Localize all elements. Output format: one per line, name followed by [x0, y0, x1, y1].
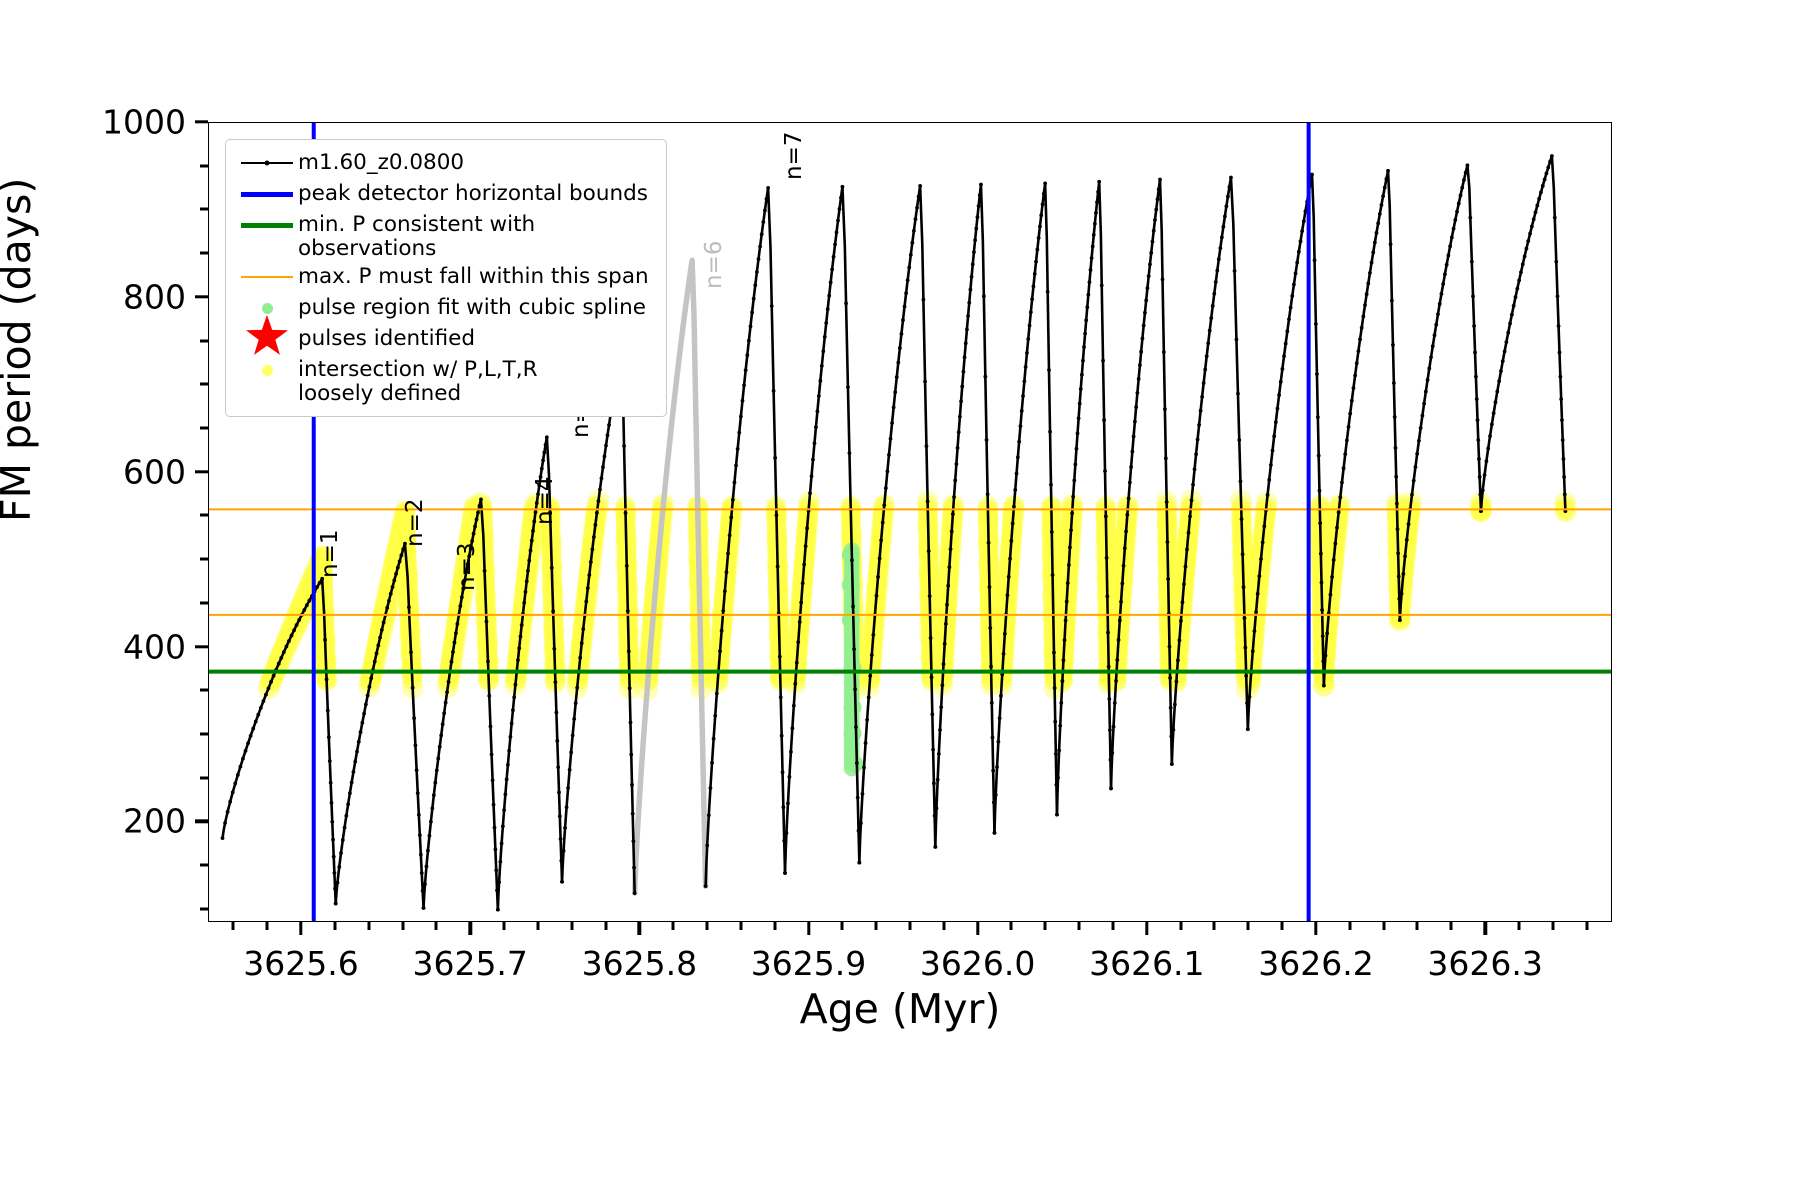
data-point: [601, 465, 605, 469]
x-tick-minor: [1450, 922, 1453, 930]
data-point: [933, 845, 937, 849]
data-point: [1419, 426, 1423, 430]
data-point: [1019, 424, 1023, 428]
data-point: [1066, 581, 1070, 585]
data-point: [701, 758, 706, 763]
data-point: [964, 341, 968, 345]
legend-line-icon: [236, 262, 298, 292]
data-point: [1535, 204, 1539, 208]
data-point: [1457, 202, 1461, 206]
data-point: [483, 569, 487, 573]
data-point: [373, 660, 377, 664]
legend-item[interactable]: pulse region fit with cubic spline: [236, 293, 656, 323]
data-point: [489, 725, 493, 729]
data-point: [1546, 166, 1550, 170]
y-tick-label: 600: [123, 452, 186, 491]
data-point: [876, 575, 880, 579]
data-point: [1196, 438, 1200, 442]
data-point: [323, 638, 327, 642]
y-tick-minor: [200, 864, 208, 867]
data-point: [1422, 402, 1426, 406]
y-tick-minor: [200, 339, 208, 342]
data-point: [498, 860, 502, 864]
data-point: [962, 370, 966, 374]
data-point: [1548, 160, 1552, 164]
data-point: [392, 578, 396, 582]
x-tick-minor: [570, 922, 573, 930]
data-point: [772, 389, 776, 393]
y-tick-minor: [200, 383, 208, 386]
data-point: [1223, 215, 1227, 219]
data-point: [516, 658, 520, 662]
data-point: [357, 740, 361, 744]
data-point: [1512, 304, 1516, 308]
data-point: [1474, 375, 1478, 379]
data-point: [1352, 386, 1356, 390]
data-point: [1514, 295, 1518, 299]
data-point: [295, 623, 299, 627]
data-point: [494, 868, 498, 872]
data-point: [1497, 379, 1501, 383]
data-point: [1164, 456, 1168, 460]
data-point: [552, 647, 556, 651]
data-point: [944, 622, 948, 626]
y-axis-label: FM period (days): [0, 178, 40, 522]
data-point: [554, 711, 558, 715]
data-point: [1558, 351, 1562, 355]
data-point: [1083, 332, 1087, 336]
data-point: [1534, 210, 1538, 214]
data-point: [1436, 312, 1440, 316]
data-point: [1262, 524, 1266, 528]
data-point: [542, 451, 546, 455]
data-point: [1200, 395, 1204, 399]
data-point: [823, 335, 827, 339]
data-point: [1345, 438, 1349, 442]
data-point: [541, 459, 545, 463]
data-point: [918, 184, 922, 188]
data-point: [712, 737, 716, 741]
data-point: [287, 639, 291, 643]
data-point: [1115, 658, 1119, 662]
data-point: [1320, 608, 1324, 612]
data-point: [586, 586, 590, 590]
data-point: [1039, 213, 1043, 217]
data-point: [1488, 434, 1492, 438]
cycle-annotation-n7: n=7: [781, 131, 807, 179]
data-point: [360, 721, 364, 725]
data-point: [1302, 219, 1306, 223]
data-point: [325, 677, 329, 681]
data-point: [1358, 337, 1362, 341]
data-point: [742, 383, 746, 387]
data-point: [811, 458, 815, 462]
data-point: [1043, 181, 1047, 185]
y-tick-minor: [200, 514, 208, 517]
data-point: [510, 721, 514, 725]
data-point: [789, 750, 793, 754]
data-point: [733, 481, 737, 485]
data-point: [731, 498, 735, 502]
data-point: [635, 826, 640, 831]
data-point: [1188, 514, 1192, 518]
data-point: [1417, 439, 1421, 443]
data-point: [239, 765, 243, 769]
data-point: [1390, 299, 1394, 303]
data-point: [228, 800, 232, 804]
legend-item[interactable]: min. P consistent with observations: [236, 210, 656, 261]
y-tick-label: 200: [123, 802, 186, 841]
data-point: [674, 383, 679, 388]
data-point: [1151, 240, 1155, 244]
data-point: [710, 761, 714, 765]
legend[interactable]: m1.60_z0.0800peak detector horizontal bo…: [225, 139, 667, 417]
data-point: [867, 696, 871, 700]
data-point: [409, 650, 413, 654]
data-point: [1012, 505, 1016, 509]
data-point: [965, 328, 969, 332]
data-point: [401, 548, 405, 552]
data-point: [581, 627, 585, 631]
data-point: [590, 548, 594, 552]
data-point: [511, 708, 515, 712]
data-point: [490, 752, 494, 756]
data-point: [1401, 572, 1405, 576]
data-point: [932, 781, 936, 785]
data-point: [1076, 432, 1080, 436]
data-point: [1284, 342, 1288, 346]
data-point: [1554, 260, 1558, 264]
data-point: [500, 841, 504, 845]
data-point: [600, 476, 604, 480]
data-point: [1228, 185, 1232, 189]
data-point: [1274, 420, 1278, 424]
data-point: [995, 765, 999, 769]
data-point: [1132, 435, 1136, 439]
data-point: [1271, 449, 1275, 453]
data-point: [930, 675, 934, 679]
x-tick-minor: [503, 922, 506, 930]
data-point: [341, 838, 345, 842]
data-point: [1459, 194, 1463, 198]
data-point: [522, 601, 526, 605]
y-tick-minor: [200, 208, 208, 211]
data-point: [407, 605, 411, 609]
data-point: [475, 518, 479, 522]
data-point: [429, 820, 433, 824]
legend-item[interactable]: pulses identified: [236, 324, 656, 354]
data-point: [720, 629, 724, 633]
data-point: [1441, 282, 1445, 286]
data-point: [750, 310, 754, 314]
data-point: [1375, 231, 1379, 235]
data-point: [672, 396, 677, 401]
data-point: [987, 541, 991, 545]
data-point: [1319, 552, 1323, 556]
data-point: [1476, 418, 1480, 422]
x-tick-minor: [1517, 922, 1520, 930]
data-point: [1412, 479, 1416, 483]
x-tick-minor: [1416, 922, 1419, 930]
data-point: [780, 734, 784, 738]
data-point: [525, 579, 529, 583]
data-point: [799, 600, 803, 604]
data-point: [745, 353, 749, 357]
data-point: [640, 757, 645, 762]
x-tick-minor: [333, 922, 336, 930]
data-point: [994, 793, 998, 797]
data-point: [1420, 414, 1424, 418]
data-point: [942, 662, 946, 666]
data-point: [527, 559, 531, 563]
data-point: [1464, 171, 1468, 175]
data-point: [1342, 466, 1346, 470]
data-point: [1501, 359, 1505, 363]
data-point: [593, 523, 597, 527]
data-point: [1217, 257, 1221, 261]
data-point: [813, 441, 817, 445]
data-point: [940, 683, 944, 687]
data-point: [1292, 283, 1296, 287]
data-point: [943, 642, 947, 646]
data-point: [818, 379, 822, 383]
data-point: [675, 371, 680, 376]
legend-item[interactable]: peak detector horizontal bounds: [236, 179, 656, 209]
data-point: [915, 206, 919, 210]
data-point: [398, 559, 402, 563]
data-point: [785, 831, 789, 835]
data-point: [556, 765, 560, 769]
data-point: [1539, 190, 1543, 194]
data-point: [844, 302, 848, 306]
y-tick-minor: [200, 776, 208, 779]
data-point: [1211, 304, 1215, 308]
data-point: [679, 334, 684, 339]
data-point: [978, 193, 982, 197]
data-point: [855, 761, 859, 765]
data-point: [966, 314, 970, 318]
data-point: [430, 806, 434, 810]
data-point: [668, 437, 673, 442]
data-point: [562, 849, 566, 853]
data-point: [1221, 225, 1225, 229]
data-point: [1415, 452, 1419, 456]
data-point: [414, 743, 418, 747]
data-point: [1212, 292, 1216, 296]
data-point: [1096, 190, 1100, 194]
data-point: [1048, 430, 1052, 434]
data-point: [391, 585, 395, 589]
data-point: [753, 283, 757, 287]
y-tick-mark: [195, 820, 208, 823]
data-point: [1059, 701, 1063, 705]
data-point: [884, 486, 888, 490]
data-point: [931, 748, 935, 752]
data-point: [657, 541, 662, 546]
data-point: [1110, 751, 1114, 755]
data-point: [282, 650, 286, 654]
x-tick-label: 3625.6: [243, 944, 358, 983]
data-point: [478, 504, 482, 508]
data-point: [1105, 556, 1109, 560]
data-point: [1381, 194, 1385, 198]
data-point: [1032, 284, 1036, 288]
data-point: [937, 752, 941, 756]
data-point: [747, 339, 751, 343]
data-point: [739, 415, 743, 419]
data-point: [595, 511, 599, 515]
data-point: [1134, 405, 1138, 409]
data-point: [272, 674, 276, 678]
data-point: [643, 716, 648, 721]
data-point: [1147, 274, 1151, 278]
legend-item[interactable]: intersection w/ P,L,T,R loosely defined: [236, 355, 656, 406]
data-point: [1053, 720, 1057, 724]
data-point: [697, 604, 702, 609]
data-point: [1091, 244, 1095, 248]
data-point: [241, 757, 245, 761]
y-tick-minor: [200, 601, 208, 604]
data-point: [1197, 423, 1201, 427]
x-tick-minor: [1010, 922, 1013, 930]
data-point: [1320, 581, 1324, 585]
data-point: [1184, 565, 1188, 569]
data-point: [1257, 574, 1261, 578]
plot-area[interactable]: m1.60_z0.0800peak detector horizontal bo…: [208, 122, 1612, 922]
data-point: [344, 814, 348, 818]
data-point: [442, 711, 446, 715]
data-point: [221, 836, 225, 840]
data-point: [1065, 600, 1069, 604]
data-point: [1168, 645, 1172, 649]
data-point: [1124, 529, 1128, 533]
data-point: [653, 589, 658, 594]
data-point: [246, 741, 250, 745]
data-point: [394, 572, 398, 576]
data-point: [1003, 632, 1007, 636]
data-point: [879, 538, 883, 542]
data-point: [779, 695, 783, 699]
data-point: [506, 763, 510, 767]
data-point: [327, 735, 331, 739]
data-point: [540, 467, 544, 471]
data-point: [1508, 322, 1512, 326]
data-point: [1071, 495, 1075, 499]
data-point: [1294, 271, 1298, 275]
data-point: [1253, 629, 1257, 633]
data-point: [917, 195, 921, 199]
data-point: [1557, 324, 1561, 328]
data-point: [718, 649, 722, 653]
data-point: [909, 253, 913, 257]
x-tick-minor: [875, 922, 878, 930]
data-point: [479, 497, 483, 501]
data-point: [1064, 619, 1068, 623]
data-point: [1348, 412, 1352, 416]
data-point: [839, 196, 843, 200]
data-point: [1506, 331, 1510, 335]
data-point: [1357, 349, 1361, 353]
data-point: [929, 636, 933, 640]
x-tick-minor: [401, 922, 404, 930]
data-point: [422, 906, 426, 910]
data-point: [1114, 679, 1118, 683]
data-point: [259, 706, 263, 710]
data-point: [555, 739, 559, 743]
data-point: [1473, 351, 1477, 355]
x-tick-minor: [1111, 922, 1114, 930]
data-point: [1089, 268, 1093, 272]
cycle-annotation-n6: n=6: [701, 241, 727, 289]
data-point: [1203, 368, 1207, 372]
data-point: [1453, 218, 1457, 222]
data-point: [1300, 229, 1304, 233]
data-point: [900, 332, 904, 336]
data-point: [688, 268, 693, 273]
data-point: [1330, 575, 1334, 579]
data-point: [380, 628, 384, 632]
data-point: [1009, 539, 1013, 543]
data-point: [375, 651, 379, 655]
data-point: [1108, 728, 1112, 732]
data-point: [491, 778, 495, 782]
data-point: [632, 866, 636, 870]
data-point: [715, 692, 719, 696]
data-point: [1067, 563, 1071, 567]
cycle-annotation-n3: n=3: [454, 542, 480, 590]
data-point: [650, 623, 655, 628]
data-point: [1143, 311, 1147, 315]
data-point: [1394, 475, 1398, 479]
data-point: [432, 793, 436, 797]
legend-item[interactable]: m1.60_z0.0800: [236, 148, 656, 178]
data-point: [647, 659, 652, 664]
data-point: [364, 703, 368, 707]
data-point: [1434, 323, 1438, 327]
data-point: [947, 565, 951, 569]
legend-item-label: m1.60_z0.0800: [298, 148, 464, 175]
data-point: [1499, 369, 1503, 373]
data-point: [687, 278, 692, 283]
data-point: [1503, 350, 1507, 354]
data-point: [1322, 684, 1326, 688]
data-point: [1193, 467, 1197, 471]
data-point: [1477, 457, 1481, 461]
data-point: [423, 882, 427, 886]
data-point: [725, 570, 729, 574]
data-point: [776, 565, 780, 569]
data-point: [292, 628, 296, 632]
x-tick-mark: [807, 922, 810, 935]
data-point: [256, 713, 260, 717]
x-tick-minor: [604, 922, 607, 930]
data-point: [1470, 260, 1474, 264]
data-point: [971, 262, 975, 266]
data-point: [1144, 298, 1148, 302]
data-point: [862, 766, 866, 770]
legend-item[interactable]: max. P must fall within this span: [236, 262, 656, 292]
data-point: [1429, 355, 1433, 359]
data-point: [362, 712, 366, 716]
data-point: [770, 304, 774, 308]
data-point: [685, 289, 690, 294]
data-point: [723, 589, 727, 593]
data-point: [1254, 610, 1258, 614]
data-point: [1166, 577, 1170, 581]
data-point: [956, 446, 960, 450]
data-point: [967, 301, 971, 305]
data-point: [1530, 225, 1534, 229]
